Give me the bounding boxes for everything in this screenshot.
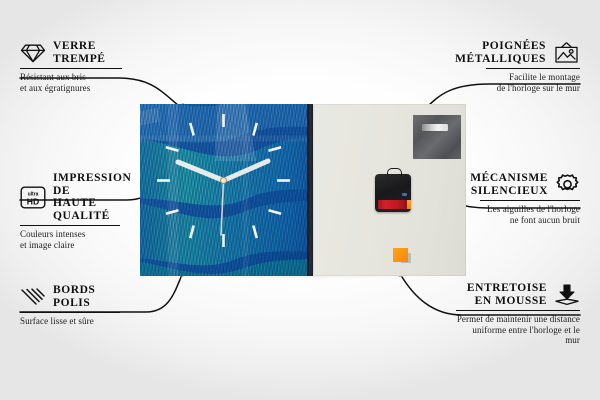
ultra-hd-icon-bottom: HD xyxy=(27,196,39,206)
callout-glass-rule xyxy=(20,68,122,69)
callout-handles-rule xyxy=(486,68,580,69)
callout-handles-subtitle: Facilite le montage de l'horloge sur le … xyxy=(486,72,580,93)
hour-marker-4 xyxy=(269,210,282,214)
battery xyxy=(378,200,408,209)
callout-spacer-head: ENTRETOISE EN MOUSSE xyxy=(456,282,580,307)
gear-icon xyxy=(555,173,580,197)
callout-metal-handles: POIGNÉES MÉTALLIQUES Facilite le montage… xyxy=(486,40,580,93)
second-hand xyxy=(221,181,224,236)
bracket-keyhole-slot xyxy=(422,124,448,131)
callout-edges-head: BORDS POLIS xyxy=(20,284,124,309)
callout-edges-title: BORDS POLIS xyxy=(53,284,95,309)
callout-glass-subtitle: Résistant aux bris et aux égratignures xyxy=(20,72,122,93)
callout-print-subtitle: Couleurs intenses et image claire xyxy=(20,229,126,250)
mechanism-detail xyxy=(402,193,407,196)
callout-silent-mechanism: MÉCANISME SILENCIEUX Les aiguilles de l'… xyxy=(480,172,580,225)
foam-spacer xyxy=(393,248,408,262)
hour-marker-2 xyxy=(269,147,282,151)
callout-print-rule xyxy=(20,225,120,226)
callout-polished-edges: BORDS POLIS Surface lisse et sûre xyxy=(20,284,124,327)
hour-marker-7 xyxy=(190,226,194,239)
clock-back-panel xyxy=(313,104,466,276)
callout-spacer-title: ENTRETOISE EN MOUSSE xyxy=(467,282,547,307)
callout-mechanism-head: MÉCANISME SILENCIEUX xyxy=(480,172,580,197)
infographic-canvas: VERRE TREMPÉ Résistant aux bris et aux é… xyxy=(0,0,600,400)
clock-face xyxy=(140,104,307,276)
foam-spacer-arrow-icon xyxy=(554,283,580,307)
callout-edges-subtitle: Surface lisse et sûre xyxy=(20,316,124,327)
clock-dial xyxy=(140,104,307,276)
callout-tempered-glass: VERRE TREMPÉ Résistant aux bris et aux é… xyxy=(20,40,122,93)
hour-marker-10 xyxy=(166,147,179,151)
callout-handles-head: POIGNÉES MÉTALLIQUES xyxy=(486,40,580,65)
callout-mechanism-title: MÉCANISME SILENCIEUX xyxy=(470,172,548,197)
mechanism-hanger-hook xyxy=(387,168,402,177)
hour-hand xyxy=(178,162,224,181)
ultra-hd-icon: ultra HD xyxy=(20,186,46,209)
hour-marker-8 xyxy=(166,210,179,214)
callout-spacer-subtitle: Permet de maintenir une distance uniform… xyxy=(456,314,580,346)
callout-mechanism-rule xyxy=(480,200,580,201)
hour-marker-1 xyxy=(253,123,256,136)
callout-mechanism-subtitle: Les aiguilles de l'horloge ne font aucun… xyxy=(480,204,580,225)
battery-terminal xyxy=(407,200,411,209)
callout-print-title: IMPRESSION DE HAUTE QUALITÉ xyxy=(53,172,131,222)
hour-marker-5 xyxy=(253,226,256,239)
callout-print-quality: ultra HD IMPRESSION DE HAUTE QUALITÉ Cou… xyxy=(20,172,126,251)
callout-edges-rule xyxy=(20,312,120,313)
callout-glass-title: VERRE TREMPÉ xyxy=(53,40,106,65)
polished-edges-icon xyxy=(20,286,46,308)
hour-marker-11 xyxy=(190,123,194,136)
callout-foam-spacer: ENTRETOISE EN MOUSSE Permet de maintenir… xyxy=(456,282,580,346)
product-image xyxy=(140,104,466,276)
callout-print-head: ultra HD IMPRESSION DE HAUTE QUALITÉ xyxy=(20,172,126,222)
minute-hand xyxy=(224,161,269,181)
callout-handles-title: POIGNÉES MÉTALLIQUES xyxy=(455,40,546,65)
callout-glass-head: VERRE TREMPÉ xyxy=(20,40,122,65)
wall-mount-frame-icon xyxy=(553,41,580,64)
diamond-icon xyxy=(20,42,46,64)
hand-hub xyxy=(221,178,227,184)
clock-mechanism xyxy=(375,174,411,212)
callout-spacer-rule xyxy=(456,310,580,311)
metal-bracket xyxy=(413,115,461,159)
